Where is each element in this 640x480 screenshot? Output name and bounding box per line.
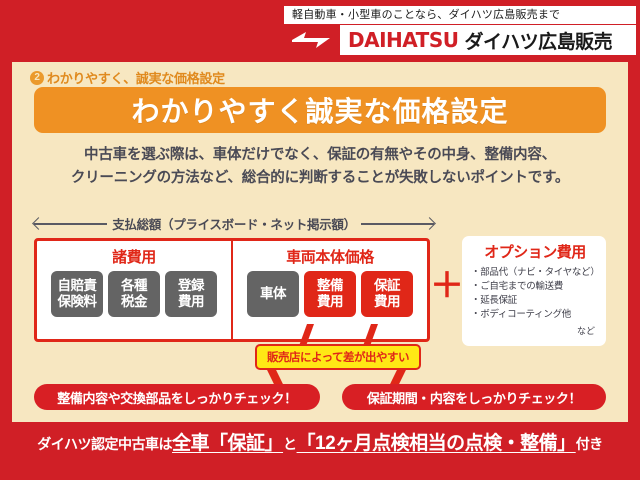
- footer-part-3: と: [283, 434, 297, 454]
- chip-row: 自賠責 保険料 各種 税金 登録 費用: [51, 271, 217, 317]
- footer-part-4: 「12ヶ月点検相当の点検・整備」: [297, 428, 576, 455]
- header-tagline: 軽自動車・小型車のことなら、ダイハツ広島販売まで: [284, 6, 636, 24]
- chip-line-1: 車体: [260, 286, 286, 302]
- footer-text: ダイハツ認定中古車は 全車「保証」 と 「12ヶ月点検相当の点検・整備」 付き: [37, 428, 602, 455]
- total-amount-label: 支払総額（プライスボード・ネット掲示額）: [112, 214, 356, 233]
- chip-line-2: 費用: [374, 294, 400, 310]
- brand-block: 軽自動車・小型車のことなら、ダイハツ広島販売まで DAIHATSU ダイハツ広島…: [284, 6, 636, 55]
- brand-name-jp: ダイハツ広島販売: [464, 25, 636, 55]
- banner-title: わかりやすく誠実な価格設定: [34, 87, 606, 133]
- lede-line-1: 中古車を選ぶ際は、車体だけでなく、保証の有無やその中身、整備内容、: [38, 144, 602, 167]
- list-item: ・部品代（ナビ・タイヤなど）: [471, 266, 599, 280]
- footer-part-1: ダイハツ認定中古車は: [37, 434, 172, 454]
- list-item: ・ボディコーティング他: [471, 308, 599, 322]
- plus-icon: ＋: [430, 272, 458, 300]
- chip-line-2: 税金: [121, 294, 147, 310]
- page-footer: ダイハツ認定中古車は 全車「保証」 と 「12ヶ月点検相当の点検・整備」 付き: [0, 422, 640, 480]
- chip-vehicle-body: 車体: [247, 271, 299, 317]
- column-title: 車両本体価格: [286, 246, 374, 267]
- column-title: 諸費用: [112, 246, 156, 267]
- price-breakdown-diagram: 諸費用 自賠責 保険料 各種 税金 登録 費用: [34, 238, 606, 350]
- lede-paragraph: 中古車を選ぶ際は、車体だけでなく、保証の有無やその中身、整備内容、 クリーニング…: [38, 144, 602, 190]
- check-warranty-pill: 保証期間・内容をしっかりチェック！: [342, 384, 606, 410]
- page-header: 軽自動車・小型車のことなら、ダイハツ広島販売まで DAIHATSU ダイハツ広島…: [0, 0, 640, 62]
- brand-name-en: DAIHATSU: [340, 25, 464, 55]
- option-note: など: [471, 324, 599, 337]
- list-item: ・延長保証: [471, 294, 599, 308]
- chip-warranty-fee: 保証 費用: [361, 271, 413, 317]
- check-maintenance-pill: 整備内容や交換部品をしっかりチェック！: [34, 384, 320, 410]
- advertisement-page: 軽自動車・小型車のことなら、ダイハツ広島販売まで DAIHATSU ダイハツ広島…: [0, 0, 640, 480]
- arrow-left-icon: [34, 218, 107, 228]
- chip-line-2: 保険料: [58, 294, 97, 310]
- footer-part-5: 付き: [576, 434, 603, 454]
- chip-registration-fee: 登録 費用: [165, 271, 217, 317]
- brand-lockup: DAIHATSU ダイハツ広島販売: [284, 25, 636, 55]
- chip-taxes: 各種 税金: [108, 271, 160, 317]
- column-vehicle-price: 車両本体価格 車体 整備 費用 保証 費用: [231, 241, 427, 339]
- option-list: ・部品代（ナビ・タイヤなど） ・ご自宅までの輸送費 ・延長保証 ・ボディコーティ…: [471, 266, 599, 322]
- chip-line-2: 費用: [178, 294, 204, 310]
- option-fees-box: オプション費用 ・部品代（ナビ・タイヤなど） ・ご自宅までの輸送費 ・延長保証 …: [462, 236, 606, 346]
- section-label-text: わかりやすく、誠実な価格設定: [47, 68, 225, 87]
- chip-line-1: 自賠責: [58, 278, 97, 294]
- option-title: オプション費用: [471, 241, 599, 262]
- chip-line-1: 各種: [121, 278, 147, 294]
- chip-maintenance-fee: 整備 費用: [304, 271, 356, 317]
- chip-row: 車体 整備 費用 保証 費用: [247, 271, 413, 317]
- content-card: 2 わかりやすく、誠実な価格設定 わかりやすく誠実な価格設定 中古車を選ぶ際は、…: [12, 62, 628, 422]
- lede-line-2: クリーニングの方法など、総合的に判断することが失敗しないポイントです。: [38, 167, 602, 190]
- chip-line-2: 費用: [317, 294, 343, 310]
- footer-part-2: 全車「保証」: [172, 428, 283, 455]
- dealer-difference-callout: 販売店によって差が出やすい: [255, 344, 421, 370]
- chip-line-1: 整備: [317, 278, 343, 294]
- chip-line-1: 保証: [374, 278, 400, 294]
- daihatsu-d-mark-icon: [284, 25, 340, 55]
- chip-compulsory-insurance: 自賠責 保険料: [51, 271, 103, 317]
- list-item: ・ご自宅までの輸送費: [471, 280, 599, 294]
- arrow-right-icon: [361, 218, 434, 228]
- total-amount-row: 支払総額（プライスボード・ネット掲示額）: [34, 212, 434, 234]
- chip-line-1: 登録: [178, 278, 204, 294]
- section-label: 2 わかりやすく、誠実な価格設定: [30, 68, 225, 87]
- section-number-badge: 2: [30, 71, 44, 85]
- column-misc-fees: 諸費用 自賠責 保険料 各種 税金 登録 費用: [37, 241, 231, 339]
